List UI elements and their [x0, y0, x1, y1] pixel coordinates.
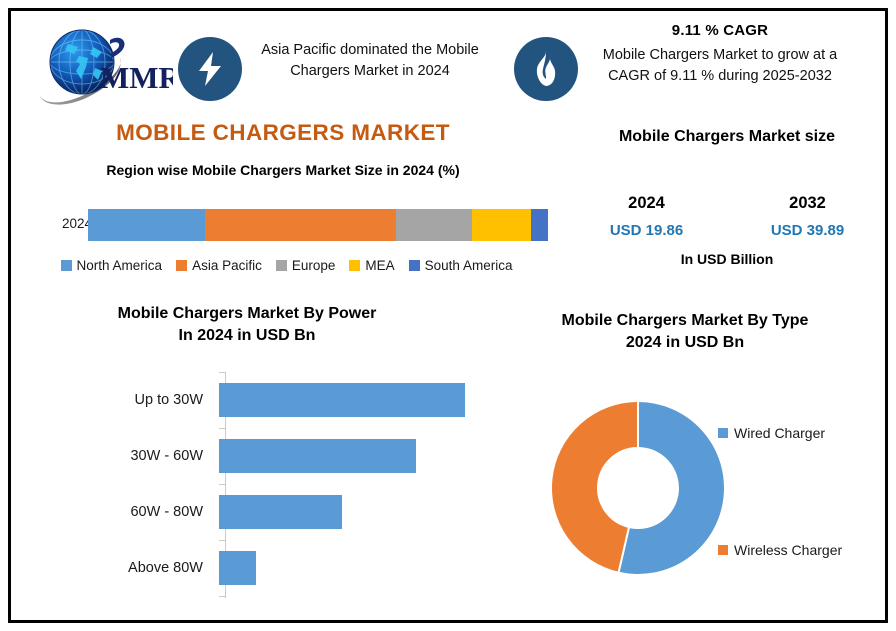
power-category-label: Above 80W: [14, 560, 219, 576]
region-legend-label: Europe: [292, 258, 336, 273]
power-bar-row: 30W - 60W: [14, 428, 484, 484]
legend-swatch-icon: [276, 260, 287, 271]
region-stacked-bar: [88, 209, 548, 241]
page-title: MOBILE CHARGERS MARKET: [0, 120, 566, 146]
power-chart-title-line2: In 2024 in USD Bn: [14, 325, 480, 347]
flame-icon: [514, 37, 578, 101]
power-category-label: 60W - 80W: [14, 504, 219, 520]
region-legend-item: Asia Pacific: [176, 258, 262, 273]
market-size-year: 2032: [727, 194, 888, 213]
power-bar: [219, 551, 256, 585]
donut-slice: [551, 401, 638, 573]
market-size-value: USD 39.89: [727, 222, 888, 239]
type-chart-title-line2: 2024 in USD Bn: [490, 332, 880, 354]
power-plot-area: Up to 30W30W - 60W60W - 80WAbove 80W: [14, 368, 484, 608]
power-category-label: 30W - 60W: [14, 448, 219, 464]
region-legend-label: Asia Pacific: [192, 258, 262, 273]
power-axis-tick: [219, 428, 226, 429]
power-bar: [219, 439, 416, 473]
power-axis-tick: [219, 540, 226, 541]
market-size-unit: In USD Billion: [566, 251, 888, 267]
legend-spacer: [718, 441, 888, 542]
legend-swatch-icon: [409, 260, 420, 271]
power-category-label: Up to 30W: [14, 392, 219, 408]
legend-swatch-icon: [718, 545, 728, 555]
legend-swatch-icon: [176, 260, 187, 271]
market-size-columns: 2024 USD 19.86 2032 USD 39.89: [566, 194, 888, 239]
region-segment: [396, 209, 472, 241]
region-segment: [472, 209, 532, 241]
type-chart-title: Mobile Chargers Market By Type 2024 in U…: [490, 310, 880, 354]
region-legend-item: North America: [61, 258, 163, 273]
region-axis-label: 2024: [40, 216, 92, 231]
type-legend: Wired ChargerWireless Charger: [718, 425, 888, 558]
power-bar-row: Up to 30W: [14, 372, 484, 428]
power-axis-tick: [219, 372, 226, 373]
market-size-value: USD 19.86: [566, 222, 727, 239]
lightning-bolt-icon: [178, 37, 242, 101]
type-chart-title-line1: Mobile Chargers Market By Type: [490, 310, 880, 332]
market-size-column: 2032 USD 39.89: [727, 194, 888, 239]
globe-logo: MMR: [38, 22, 173, 110]
market-size-title: Mobile Chargers Market size: [566, 128, 888, 146]
region-legend: North AmericaAsia PacificEuropeMEASouth …: [14, 258, 559, 273]
cagr-statement: Mobile Chargers Market to grow at a CAGR…: [596, 45, 844, 87]
region-legend-label: MEA: [365, 258, 394, 273]
market-size-year: 2024: [566, 194, 727, 213]
region-legend-item: South America: [409, 258, 513, 273]
type-legend-item: Wired Charger: [718, 425, 888, 441]
region-segment: [205, 209, 396, 241]
power-axis-tick: [219, 596, 226, 597]
svg-text:MMR: MMR: [100, 60, 173, 95]
region-segment: [88, 209, 205, 241]
region-legend-item: MEA: [349, 258, 394, 273]
power-chart-title: Mobile Chargers Market By Power In 2024 …: [14, 303, 480, 347]
type-legend-label: Wireless Charger: [734, 542, 842, 558]
power-bar-chart: Up to 30W30W - 60W60W - 80WAbove 80W: [14, 368, 484, 608]
region-legend-label: South America: [425, 258, 513, 273]
region-chart-title: Region wise Mobile Chargers Market Size …: [0, 162, 566, 178]
power-bar: [219, 383, 465, 417]
legend-swatch-icon: [349, 260, 360, 271]
legend-swatch-icon: [718, 428, 728, 438]
type-donut-chart: [540, 390, 736, 586]
legend-swatch-icon: [61, 260, 72, 271]
power-bar-row: Above 80W: [14, 540, 484, 596]
type-legend-item: Wireless Charger: [718, 542, 888, 558]
market-size-column: 2024 USD 19.86: [566, 194, 727, 239]
cagr-block: 9.11 % CAGR Mobile Chargers Market to gr…: [596, 22, 844, 87]
region-legend-item: Europe: [276, 258, 336, 273]
region-segment: [531, 209, 548, 241]
power-bar-row: 60W - 80W: [14, 484, 484, 540]
region-legend-label: North America: [77, 258, 163, 273]
power-bar: [219, 495, 342, 529]
power-chart-title-line1: Mobile Chargers Market By Power: [14, 303, 480, 325]
infographic-page: MMR Asia Pacific dominated the Mobile Ch…: [0, 0, 896, 631]
headline-left-statement: Asia Pacific dominated the Mobile Charge…: [250, 40, 490, 82]
region-share-chart: 2024 North AmericaAsia PacificEuropeMEAS…: [14, 200, 559, 290]
type-legend-label: Wired Charger: [734, 425, 825, 441]
cagr-value: 9.11 % CAGR: [596, 22, 844, 39]
power-axis-tick: [219, 484, 226, 485]
